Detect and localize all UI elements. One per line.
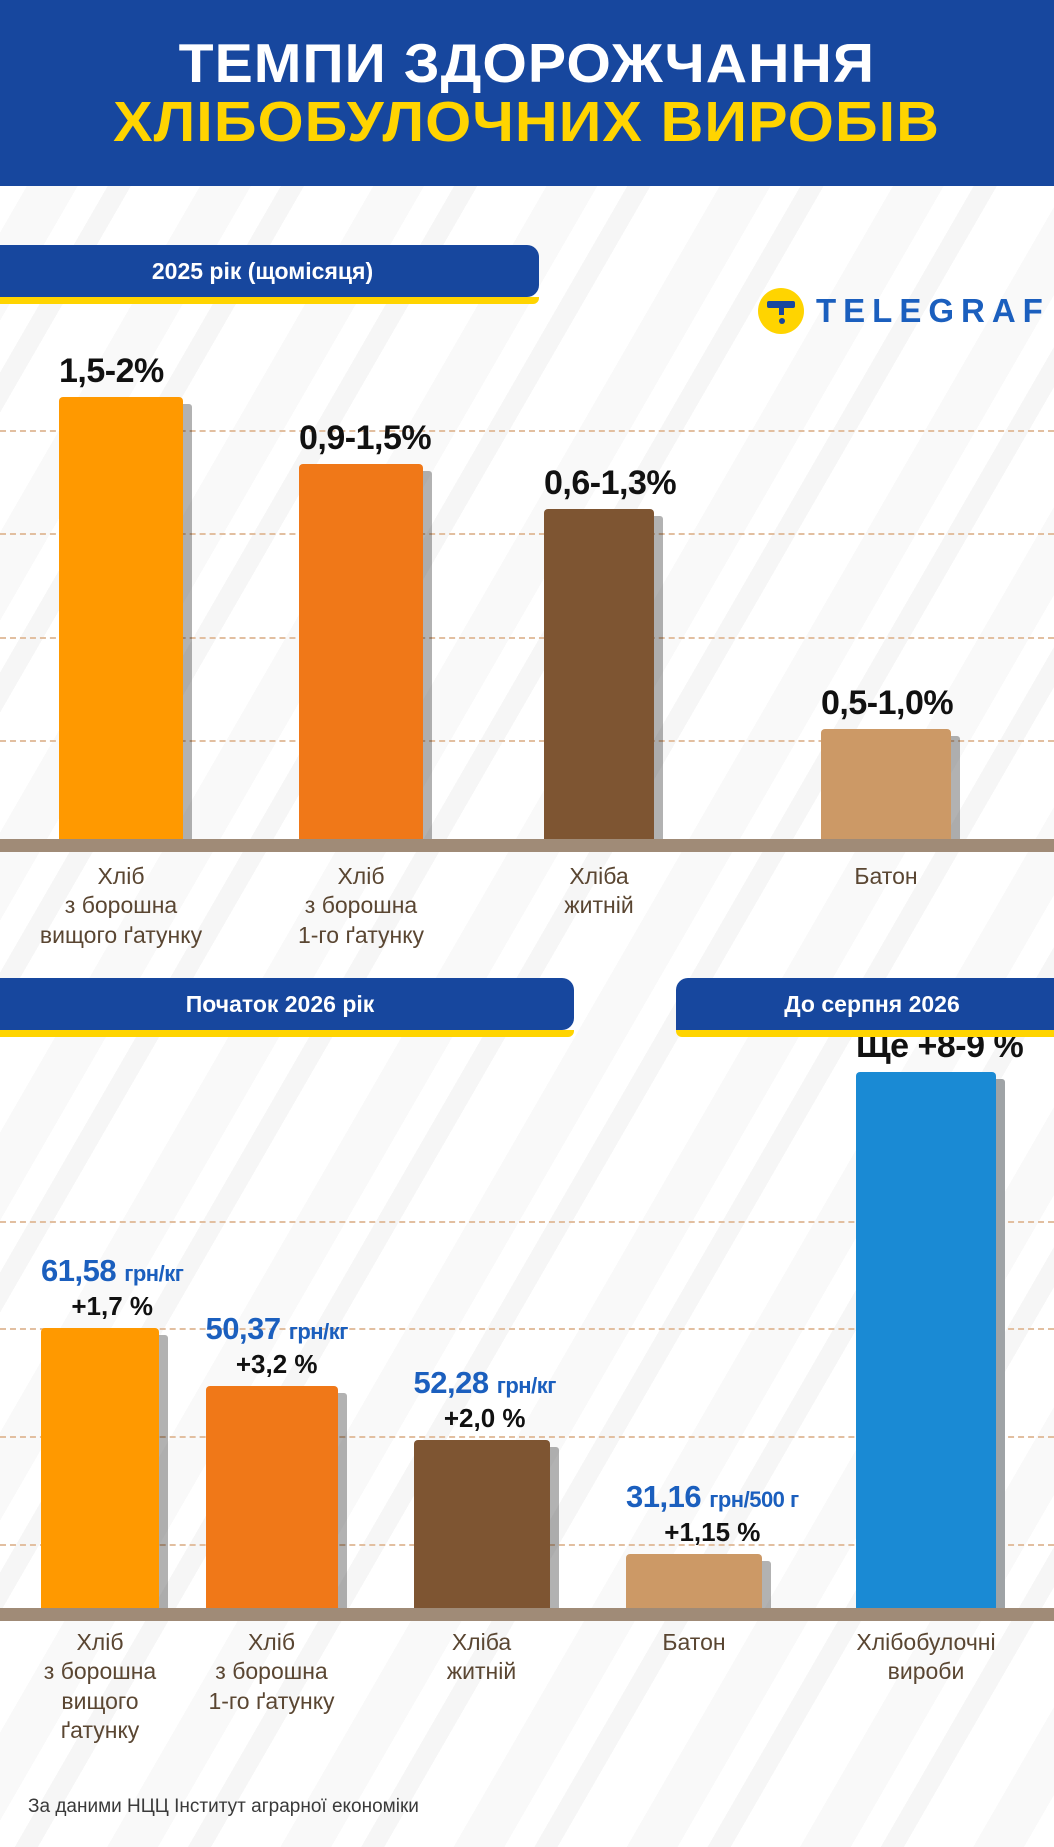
section-label-start-2026-text: Початок 2026 рік (186, 991, 375, 1018)
bar-label-group-1: 0,9-1,5% (299, 419, 431, 464)
bar-price-label: 31,16 грн/500 г (626, 1479, 799, 1515)
bar-column-0: 1,5-2% (0, 330, 242, 839)
category-labels-2025: Хліб з борошна вищого ґатунку Хліб з бор… (0, 862, 1054, 950)
page-header: ТЕМПИ ЗДОРОЖЧАННЯ ХЛІБОБУЛОЧНИХ ВИРОБІВ (0, 0, 1054, 186)
telegraf-mark-icon (758, 288, 804, 334)
bar-column-4: Ще +8-9 % (798, 1040, 1054, 1608)
telegraf-wordmark: TELEGRAF (816, 292, 1050, 330)
bar-column-1: 50,37 грн/кг +3,2 % (170, 1040, 373, 1608)
category-label-0: Хліб з борошна вищого ґатунку (0, 862, 242, 950)
bar-price-unit: грн/кг (497, 1373, 556, 1398)
bar-price-label: 52,28 грн/кг (414, 1365, 556, 1401)
category-label-1: Хліб з борошна 1-го ґатунку (170, 1628, 373, 1746)
category-label-0: Хліб з борошна вищого ґатунку (0, 1628, 170, 1746)
category-label-2: Хліба житній (480, 862, 718, 950)
telegraf-logo[interactable]: TELEGRAF (758, 288, 1050, 334)
bar-column-3: 0,5-1,0% (718, 330, 1054, 839)
bar-column-0: 61,58 грн/кг +1,7 % (0, 1040, 170, 1608)
section-label-until-august-2026: До серпня 2026 (676, 978, 1054, 1030)
bar-pct-label: +3,2 % (236, 1349, 318, 1380)
bar-column-1: 0,9-1,5% (242, 330, 480, 839)
bar-price-value: 52,28 (414, 1365, 489, 1400)
bar-price-unit: грн/кг (289, 1319, 348, 1344)
bar-label-group-1: 50,37 грн/кг +3,2 % (206, 1311, 348, 1386)
bar-pct-label: +1,7 % (71, 1291, 153, 1322)
baseline-2025 (0, 839, 1054, 852)
baseline-2026 (0, 1608, 1054, 1621)
category-label-3: Батон (590, 1628, 798, 1746)
bar-price-label: 61,58 грн/кг (41, 1253, 183, 1289)
bar-2026-0: 61,58 грн/кг +1,7 % (41, 1328, 159, 1608)
bar-price-unit: грн/кг (124, 1261, 183, 1286)
category-label-4: Хлібобулочні вироби (798, 1628, 1054, 1746)
bar-label-group-0: 1,5-2% (59, 352, 164, 397)
bar-value-label: 1,5-2% (59, 352, 164, 391)
bar-2025-3: 0,5-1,0% (821, 729, 951, 839)
category-label-2: Хліба житній (373, 1628, 590, 1746)
bars-2025: 1,5-2% 0,9-1,5% 0,6-1,3% 0,5-1,0% (0, 330, 1054, 839)
bar-label-group-3: 31,16 грн/500 г +1,15 % (626, 1479, 799, 1554)
pill-underline (676, 1030, 1054, 1037)
section-label-until-august-2026-text: До серпня 2026 (784, 991, 960, 1018)
source-note: За даними НЦЦ Інститут аграрної економік… (28, 1796, 419, 1818)
bar-column-3: 31,16 грн/500 г +1,15 % (590, 1040, 798, 1608)
category-label-1: Хліб з борошна 1-го ґатунку (242, 862, 480, 950)
bar-price-unit: грн/500 г (709, 1487, 798, 1512)
logo-bar-shape (767, 301, 795, 308)
page-title-line-2: ХЛІБОБУЛОЧНИХ ВИРОБІВ (114, 93, 941, 151)
logo-stem-shape (779, 308, 784, 315)
bar-label-group-0: 61,58 грн/кг +1,7 % (41, 1253, 183, 1328)
section-label-2025-text: 2025 рік (щомісяця) (152, 258, 373, 285)
bars-2026: 61,58 грн/кг +1,7 % 50,37 грн/кг +3,2 % (0, 1040, 1054, 1608)
bar-price-value: 61,58 (41, 1253, 116, 1288)
pill-underline (0, 1030, 574, 1037)
chart-2026-prices: 61,58 грн/кг +1,7 % 50,37 грн/кг +3,2 % (0, 1040, 1054, 1800)
bar-column-2: 52,28 грн/кг +2,0 % (373, 1040, 590, 1608)
category-labels-2026: Хліб з борошна вищого ґатунку Хліб з бор… (0, 1628, 1054, 1746)
bar-2026-1: 50,37 грн/кг +3,2 % (206, 1386, 338, 1608)
bar-value-label: 0,6-1,3% (544, 464, 676, 503)
bar-label-group-2: 0,6-1,3% (544, 464, 676, 509)
bar-2025-1: 0,9-1,5% (299, 464, 423, 839)
logo-dot-shape (779, 318, 785, 324)
category-label-3: Батон (718, 862, 1054, 950)
bar-2026-3: 31,16 грн/500 г +1,15 % (626, 1554, 762, 1608)
page-title-line-1: ТЕМПИ ЗДОРОЖЧАННЯ (179, 35, 875, 91)
bar-2025-2: 0,6-1,3% (544, 509, 654, 839)
bar-2026-2: 52,28 грн/кг +2,0 % (414, 1440, 550, 1608)
bar-column-2: 0,6-1,3% (480, 330, 718, 839)
bar-pct-label: +2,0 % (444, 1403, 526, 1434)
bar-value-label: 0,9-1,5% (299, 419, 431, 458)
pill-underline (0, 297, 539, 304)
chart-2025-monthly: 1,5-2% 0,9-1,5% 0,6-1,3% 0,5-1,0% (0, 330, 1054, 970)
bar-value-label: 0,5-1,0% (821, 684, 953, 723)
bar-price-value: 50,37 (206, 1311, 281, 1346)
section-label-2025: 2025 рік (щомісяця) (0, 245, 539, 297)
bar-label-group-3: 0,5-1,0% (821, 684, 953, 729)
bar-price-value: 31,16 (626, 1479, 701, 1514)
bar-2025-0: 1,5-2% (59, 397, 183, 839)
bar-label-group-2: 52,28 грн/кг +2,0 % (414, 1365, 556, 1440)
bar-price-label: 50,37 грн/кг (206, 1311, 348, 1347)
bar-pct-label: +1,15 % (664, 1517, 760, 1548)
section-label-start-2026: Початок 2026 рік (0, 978, 574, 1030)
bar-2026-4: Ще +8-9 % (856, 1072, 996, 1608)
